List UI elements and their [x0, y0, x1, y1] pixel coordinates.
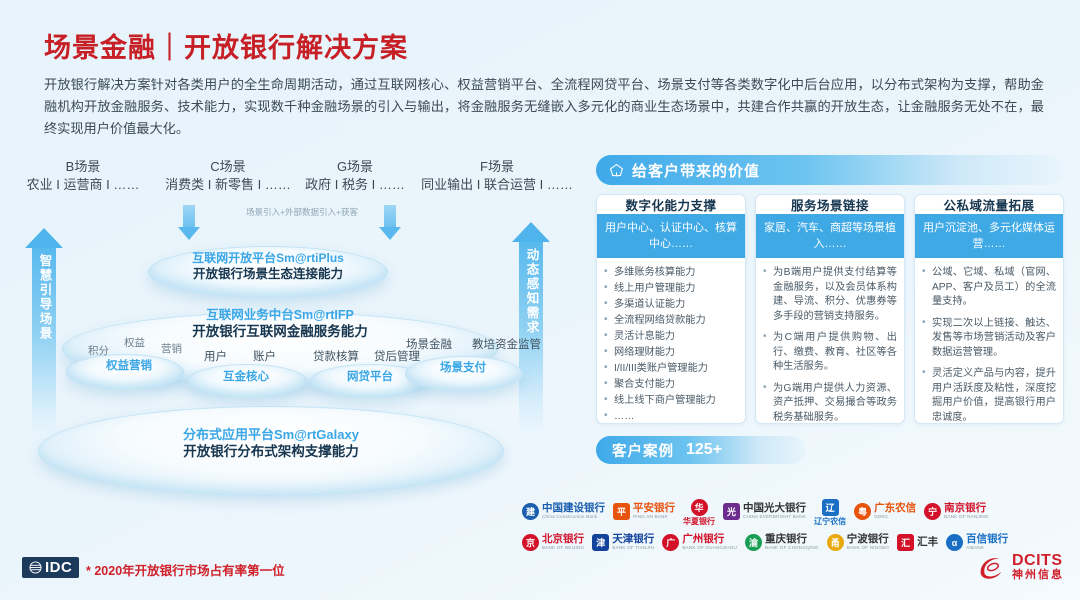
- bank-name-en: BANK OF GUANGZHOU: [682, 545, 737, 551]
- pentagon-icon: [608, 162, 625, 179]
- module-tag: 账户: [253, 348, 276, 364]
- bank-mark-icon: 广: [662, 534, 679, 551]
- module-tag: 权益: [124, 335, 145, 350]
- card-item-list: 公域、它域、私域（官网、APP、客户及员工）的全流量支持。 实现二次以上链接、触…: [921, 266, 1056, 424]
- module-tag: 场景金融: [406, 336, 452, 352]
- list-item: 为G端用户提供人力资源、资产抵押、交易撮合等政务税务基础服务。: [762, 382, 897, 425]
- value-card[interactable]: 数字化能力支撑 用户中心、认证中心、核算中心…… 多维账务核算能力 线上用户管理…: [596, 194, 746, 424]
- card-band: 用户中心、认证中心、核算中心……: [597, 214, 745, 258]
- brand-name-en: DCITS: [1012, 552, 1064, 569]
- bank-name-cn: 中国建设银行: [542, 503, 605, 514]
- list-item: 实现二次以上链接、触达、发售等市场营销活动及客户数据运营管理。: [921, 317, 1056, 361]
- bank-logo: 广 广州银行 BANK OF GUANGZHOU: [660, 530, 739, 556]
- list-item: 公域、它域、私域（官网、APP、客户及员工）的全流量支持。: [921, 266, 1056, 310]
- page-title: 场景金融｜开放银行解决方案: [44, 26, 408, 65]
- logo-row-1: 建 中国建设银行 China Construction Bank 平 平安银行 …: [520, 496, 1080, 527]
- module-tag: 贷款核算: [313, 348, 359, 364]
- scene-subtitle: 消费类 I 新零售 I ……: [148, 175, 308, 194]
- value-card[interactable]: 公私域流量拓展 用户沉淀池、多元化媒体运营…… 公域、它域、私域（官网、APP、…: [914, 194, 1064, 424]
- bank-name-en: BANK OF NINGBO: [847, 545, 889, 551]
- bank-name-en: BANK OF NANJING: [944, 514, 989, 520]
- bank-name-en: AIBANK: [966, 545, 1008, 551]
- down-arrow-left-icon: [178, 205, 200, 240]
- bank-mark-icon: α: [946, 534, 963, 551]
- bank-name-en: BANK OF CHONGQING: [765, 545, 819, 551]
- layer-capability: 开放银行分布式架构支撑能力: [38, 443, 504, 461]
- card-item-list: 为B端用户提供支付结算等金融服务，以及会员体系构建、导流、积分、优惠券等多手段的…: [762, 266, 897, 424]
- layer-capability: 开放银行场景生态连接能力: [148, 266, 388, 282]
- bank-mark-icon: 华: [691, 499, 708, 516]
- bank-mark-icon: 汇: [897, 534, 914, 551]
- list-item: 灵活计息能力: [603, 330, 738, 344]
- idc-label: IDC: [45, 559, 72, 576]
- bank-mark-icon: 渝: [745, 534, 762, 551]
- scene-column-f: F场景 同业输出 I 联合运营 I ……: [412, 158, 582, 194]
- bank-name-cn: 广东农信: [874, 503, 916, 514]
- bank-name-cn: 平安银行: [633, 503, 675, 514]
- list-item: 聚合支付能力: [603, 378, 738, 392]
- card-title: 服务场景链接: [756, 195, 904, 214]
- slide-root: 场景金融｜开放银行解决方案 开放银行解决方案针对各类用户的全生命周期活动，通过互…: [0, 0, 1080, 600]
- scene-column-b: B场景 农业 I 运营商 I ……: [8, 158, 158, 194]
- down-arrow-right-icon: [379, 205, 401, 240]
- left-up-arrow: 智慧引导场景: [25, 228, 63, 438]
- card-body: 公域、它域、私域（官网、APP、客户及员工）的全流量支持。 实现二次以上链接、触…: [915, 258, 1063, 424]
- platform-layer-3-labels: 分布式应用平台Sm@rtGalaxy 开放银行分布式架构支撑能力: [38, 426, 504, 461]
- left-arrow-label: 智慧引导场景: [37, 254, 52, 341]
- scene-title: C场景: [148, 158, 308, 175]
- intro-paragraph: 开放银行解决方案针对各类用户的全生命周期活动，通过互联网核心、权益营销平台、全流…: [44, 74, 1044, 140]
- value-panel: 给客户带来的价值 数字化能力支撑 用户中心、认证中心、核算中心…… 多维账务核算…: [596, 155, 1064, 464]
- bank-logo: 宁 南京银行 BANK OF NANJING: [922, 499, 991, 525]
- bank-name-cn: 天津银行: [612, 534, 654, 545]
- card-body: 为B端用户提供支付结算等金融服务，以及会员体系构建、导流、积分、优惠券等多手段的…: [756, 258, 904, 424]
- bank-name-cn: 辽宁农信: [814, 516, 846, 527]
- platform-layer-1-labels: 互联网开放平台Sm@rtiPlus 开放银行场景生态连接能力: [148, 251, 388, 282]
- bank-logo: 甬 宁波银行 BANK OF NINGBO: [825, 530, 891, 556]
- bank-name-cn: 广州银行: [682, 534, 737, 545]
- dcits-swoosh-icon: [977, 554, 1007, 580]
- bank-logo: 汇 汇丰: [895, 530, 940, 556]
- scene-column-c: C场景 消费类 I 新零售 I ……: [148, 158, 308, 194]
- list-item: 灵活定义产品与内容，提升用户活跃度及粘性，深度挖掘用户价值，提高银行用户忠诚度。: [921, 367, 1056, 424]
- bank-name-en: PING AN BANK: [633, 514, 675, 520]
- module-name: 场景支付: [440, 359, 486, 375]
- bank-name-cn: 百信银行: [966, 534, 1008, 545]
- dcits-brand: DCITS 神州信息: [977, 552, 1064, 582]
- bank-mark-icon: 甬: [827, 534, 844, 551]
- scene-subtitle: 同业输出 I 联合运营 I ……: [412, 175, 582, 194]
- bank-mark-icon: 辽: [822, 499, 839, 516]
- module-name: 权益营销: [106, 357, 152, 373]
- bank-name-cn: 华夏银行: [683, 516, 715, 527]
- architecture-diagram: B场景 农业 I 运营商 I …… C场景 消费类 I 新零售 I …… G场景…: [0, 150, 588, 550]
- module-tag: 教培资金监管: [472, 336, 541, 352]
- card-title: 公私域流量拓展: [915, 195, 1063, 214]
- scene-subtitle: 农业 I 运营商 I ……: [8, 175, 158, 194]
- bank-logo: 京 北京银行 BANK OF BEIJING: [520, 530, 586, 556]
- scene-title: B场景: [8, 158, 158, 175]
- bank-name-cn: 宁波银行: [847, 534, 889, 545]
- card-band: 家居、汽车、商超等场景植入……: [756, 214, 904, 258]
- list-item: 多渠道认证能力: [603, 298, 738, 312]
- scene-title: G场景: [285, 158, 425, 175]
- right-up-arrow: 动态感知需求: [512, 222, 550, 432]
- customer-logo-grid: 建 中国建设银行 China Construction Bank 平 平安银行 …: [520, 496, 1080, 558]
- bank-name-cn: 汇丰: [917, 537, 938, 548]
- value-card[interactable]: 服务场景链接 家居、汽车、商超等场景植入…… 为B端用户提供支付结算等金融服务，…: [755, 194, 905, 424]
- value-banner-label: 给客户带来的价值: [632, 160, 760, 181]
- scene-title: F场景: [412, 158, 582, 175]
- bank-logo: 辽 辽宁农信: [812, 499, 848, 525]
- bank-mark-icon: 津: [592, 534, 609, 551]
- bank-logo: 光 中国光大银行 CHINA EVERBRIGHT BANK: [721, 499, 808, 525]
- list-item: 网络理财能力: [603, 346, 738, 360]
- flow-caption: 场景引入+外部数据引入+获客: [222, 206, 382, 218]
- list-item: 线上用户管理能力: [603, 282, 738, 296]
- value-banner: 给客户带来的价值: [596, 155, 1064, 185]
- bank-name-cn: 北京银行: [542, 534, 584, 545]
- right-arrow-label: 动态感知需求: [524, 248, 539, 335]
- bank-logo: 建 中国建设银行 China Construction Bank: [520, 499, 607, 525]
- bank-logo: 平 平安银行 PING AN BANK: [611, 499, 677, 525]
- bank-name-cn: 重庆银行: [765, 534, 819, 545]
- module-tag: 营销: [161, 341, 182, 356]
- arrow-head-icon: [25, 228, 63, 248]
- scene-column-g: G场景 政府 I 税务 I ……: [285, 158, 425, 194]
- cases-count: 125+: [686, 441, 722, 459]
- bank-name-en: China Construction Bank: [542, 514, 605, 520]
- globe-icon: [29, 561, 42, 574]
- list-item: 为B端用户提供支付结算等金融服务，以及会员体系构建、导流、积分、优惠券等多手段的…: [762, 266, 897, 324]
- list-item: ……: [603, 410, 738, 424]
- bank-mark-icon: 宁: [924, 503, 941, 520]
- brand-name-cn: 神州信息: [1012, 569, 1064, 582]
- bank-name-en: BANK OF BEIJING: [542, 545, 584, 551]
- bank-name-en: BANK OF TIANJIN: [612, 545, 654, 551]
- card-title: 数字化能力支撑: [597, 195, 745, 214]
- bank-logo: 粤 广东农信 GDRC: [852, 499, 918, 525]
- bank-name-en: CHINA EVERBRIGHT BANK: [743, 514, 806, 520]
- card-band: 用户沉淀池、多元化媒体运营……: [915, 214, 1063, 258]
- card-body: 多维账务核算能力 线上用户管理能力 多渠道认证能力 全流程网络贷款能力 灵活计息…: [597, 258, 745, 424]
- scene-subtitle: 政府 I 税务 I ……: [285, 175, 425, 194]
- bank-mark-icon: 光: [723, 503, 740, 520]
- bank-logo: 津 天津银行 BANK OF TIANJIN: [590, 530, 656, 556]
- bank-mark-icon: 建: [522, 503, 539, 520]
- bank-mark-icon: 平: [613, 503, 630, 520]
- list-item: 线上线下商户管理能力: [603, 394, 738, 408]
- bank-mark-icon: 京: [522, 534, 539, 551]
- module-tag: 用户: [204, 348, 227, 364]
- cases-banner: 客户案例 125+: [596, 436, 806, 464]
- module-tag: 积分: [88, 343, 109, 358]
- bank-logo: 华 华夏银行: [681, 499, 717, 525]
- list-item: 多维账务核算能力: [603, 266, 738, 280]
- bank-name-cn: 中国光大银行: [743, 503, 806, 514]
- bank-name-cn: 南京银行: [944, 503, 989, 514]
- layer-product-name: 分布式应用平台Sm@rtGalaxy: [38, 426, 504, 443]
- layer-product-name: 互联网开放平台Sm@rtiPlus: [148, 251, 388, 266]
- idc-badge: IDC: [22, 557, 79, 578]
- module-name: 网贷平台: [347, 368, 393, 384]
- module-name: 互金核心: [223, 368, 269, 384]
- bank-logo: 渝 重庆银行 BANK OF CHONGQING: [743, 530, 821, 556]
- bank-mark-icon: 粤: [854, 503, 871, 520]
- card-item-list: 多维账务核算能力 线上用户管理能力 多渠道认证能力 全流程网络贷款能力 灵活计息…: [603, 266, 738, 424]
- bank-name-en: GDRC: [874, 514, 916, 520]
- list-item: 全流程网络贷款能力: [603, 314, 738, 328]
- value-card-list: 数字化能力支撑 用户中心、认证中心、核算中心…… 多维账务核算能力 线上用户管理…: [596, 194, 1064, 424]
- layer-product-name: 互联网业务中台Sm@rtIFP: [62, 307, 498, 323]
- arrow-head-icon: [512, 222, 550, 242]
- footnote: * 2020年开放银行市场占有率第一位: [86, 560, 285, 579]
- cases-banner-label: 客户案例: [612, 440, 674, 461]
- list-item: I/II/III类账户管理能力: [603, 362, 738, 376]
- list-item: 为C端用户提供购物、出行、缴费、教育、社区等各种生活服务。: [762, 331, 897, 375]
